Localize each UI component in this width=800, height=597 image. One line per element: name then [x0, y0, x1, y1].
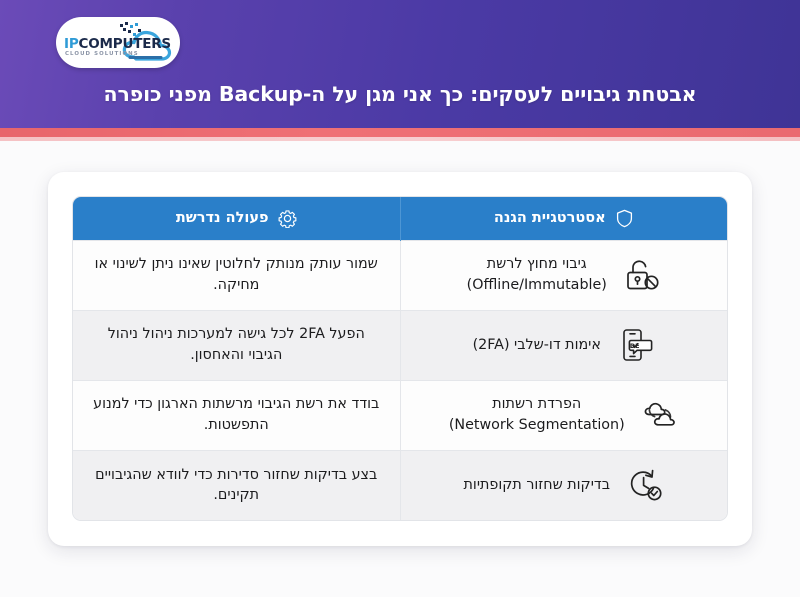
- table-row[interactable]: בדיקות שחזור תקופתיות בצע בדיקות שחזור ס…: [73, 450, 727, 520]
- table-row[interactable]: DE אימות דו-שלבי (2FA) הפעל 2FA לכל גישה…: [73, 310, 727, 380]
- page-header-banner: IPCOMPUTERS CLOUD SOLUTIONS אבטחת גיבויי…: [0, 0, 800, 128]
- cell-action: הפעל 2FA לכל גישה למערכות ניהול ניהול הג…: [73, 310, 400, 380]
- strategy-line1: אימות דו-שלבי (2FA): [473, 337, 601, 353]
- unlocked-padlock-blocked-icon: [623, 256, 661, 294]
- strategy-text: אימות דו-שלבי (2FA): [473, 335, 601, 356]
- strategy-line1: גיבוי מחוץ לרשת: [487, 256, 587, 272]
- two-clouds-network-icon: [641, 396, 679, 434]
- cell-strategy: בדיקות שחזור תקופתיות: [400, 450, 727, 520]
- strategy-inner: הפרדת רשתות (Network Segmentation): [417, 394, 712, 435]
- strategy-inner: בדיקות שחזור תקופתיות: [417, 466, 712, 504]
- logo-wordmark-ip: IP: [64, 36, 79, 52]
- strategy-line2: (Network Segmentation): [449, 415, 625, 436]
- logo-wordmark-computers: COMPUTERS: [79, 36, 171, 52]
- cell-strategy: גיבוי מחוץ לרשת (Offline/Immutable): [400, 240, 727, 310]
- logo-wordmark: IPCOMPUTERS: [64, 36, 171, 52]
- table-body: גיבוי מחוץ לרשת (Offline/Immutable) שמור…: [73, 240, 727, 520]
- column-header-action-inner: פעולה נדרשת: [89, 209, 384, 228]
- strategy-inner: DE אימות דו-שלבי (2FA): [417, 326, 712, 364]
- strategy-line1: בדיקות שחזור תקופתיות: [464, 477, 610, 493]
- strategy-line2: (Offline/Immutable): [467, 275, 607, 296]
- strategy-inner: גיבוי מחוץ לרשת (Offline/Immutable): [417, 254, 712, 295]
- cell-action: שמור עותק מנותק לחלוטין שאינו ניתן לשינו…: [73, 240, 400, 310]
- logo-inner: IPCOMPUTERS CLOUD SOLUTIONS: [56, 17, 180, 68]
- accent-bar-soft: [0, 137, 800, 141]
- logo-tagline: CLOUD SOLUTIONS: [65, 51, 139, 57]
- cell-strategy: הפרדת רשתות (Network Segmentation): [400, 380, 727, 450]
- strategy-text: גיבוי מחוץ לרשת (Offline/Immutable): [467, 254, 607, 295]
- table-head: אסטרטגיית הגנה: [73, 197, 727, 240]
- gear-icon: [278, 209, 297, 228]
- page-title: אבטחת גיבויים לעסקים: כך אני מגן על ה-Ba…: [0, 82, 800, 106]
- strategy-line1: הפרדת רשתות: [492, 396, 581, 412]
- column-header-strategy-label: אסטרטגיית הגנה: [494, 210, 606, 226]
- strategy-text: הפרדת רשתות (Network Segmentation): [449, 394, 625, 435]
- column-header-strategy[interactable]: אסטרטגיית הגנה: [400, 197, 727, 240]
- table-row[interactable]: הפרדת רשתות (Network Segmentation) בודד …: [73, 380, 727, 450]
- cell-strategy: DE אימות דו-שלבי (2FA): [400, 310, 727, 380]
- restore-clock-check-icon: [626, 466, 664, 504]
- table-row[interactable]: גיבוי מחוץ לרשת (Offline/Immutable) שמור…: [73, 240, 727, 310]
- strategy-text: בדיקות שחזור תקופתיות: [464, 475, 610, 496]
- column-header-action[interactable]: פעולה נדרשת: [73, 197, 400, 240]
- table-header-row: אסטרטגיית הגנה: [73, 197, 727, 240]
- mobile-2fa-verified-icon: DE: [617, 326, 655, 364]
- svg-text:DE: DE: [630, 342, 640, 350]
- content-card: אסטרטגיית הגנה: [48, 172, 752, 546]
- shield-icon: [615, 209, 634, 228]
- column-header-action-label: פעולה נדרשת: [176, 210, 269, 226]
- cell-action: בודד את רשת הגיבוי מרשתות הארגון כדי למנ…: [73, 380, 400, 450]
- accent-bar: [0, 128, 800, 137]
- strategy-table-container: אסטרטגיית הגנה: [72, 196, 728, 521]
- strategy-table: אסטרטגיית הגנה: [73, 197, 727, 520]
- column-header-strategy-inner: אסטרטגיית הגנה: [417, 209, 712, 228]
- cell-action: בצע בדיקות שחזור סדירות כדי לוודא שהגיבו…: [73, 450, 400, 520]
- brand-logo[interactable]: IPCOMPUTERS CLOUD SOLUTIONS: [56, 17, 180, 68]
